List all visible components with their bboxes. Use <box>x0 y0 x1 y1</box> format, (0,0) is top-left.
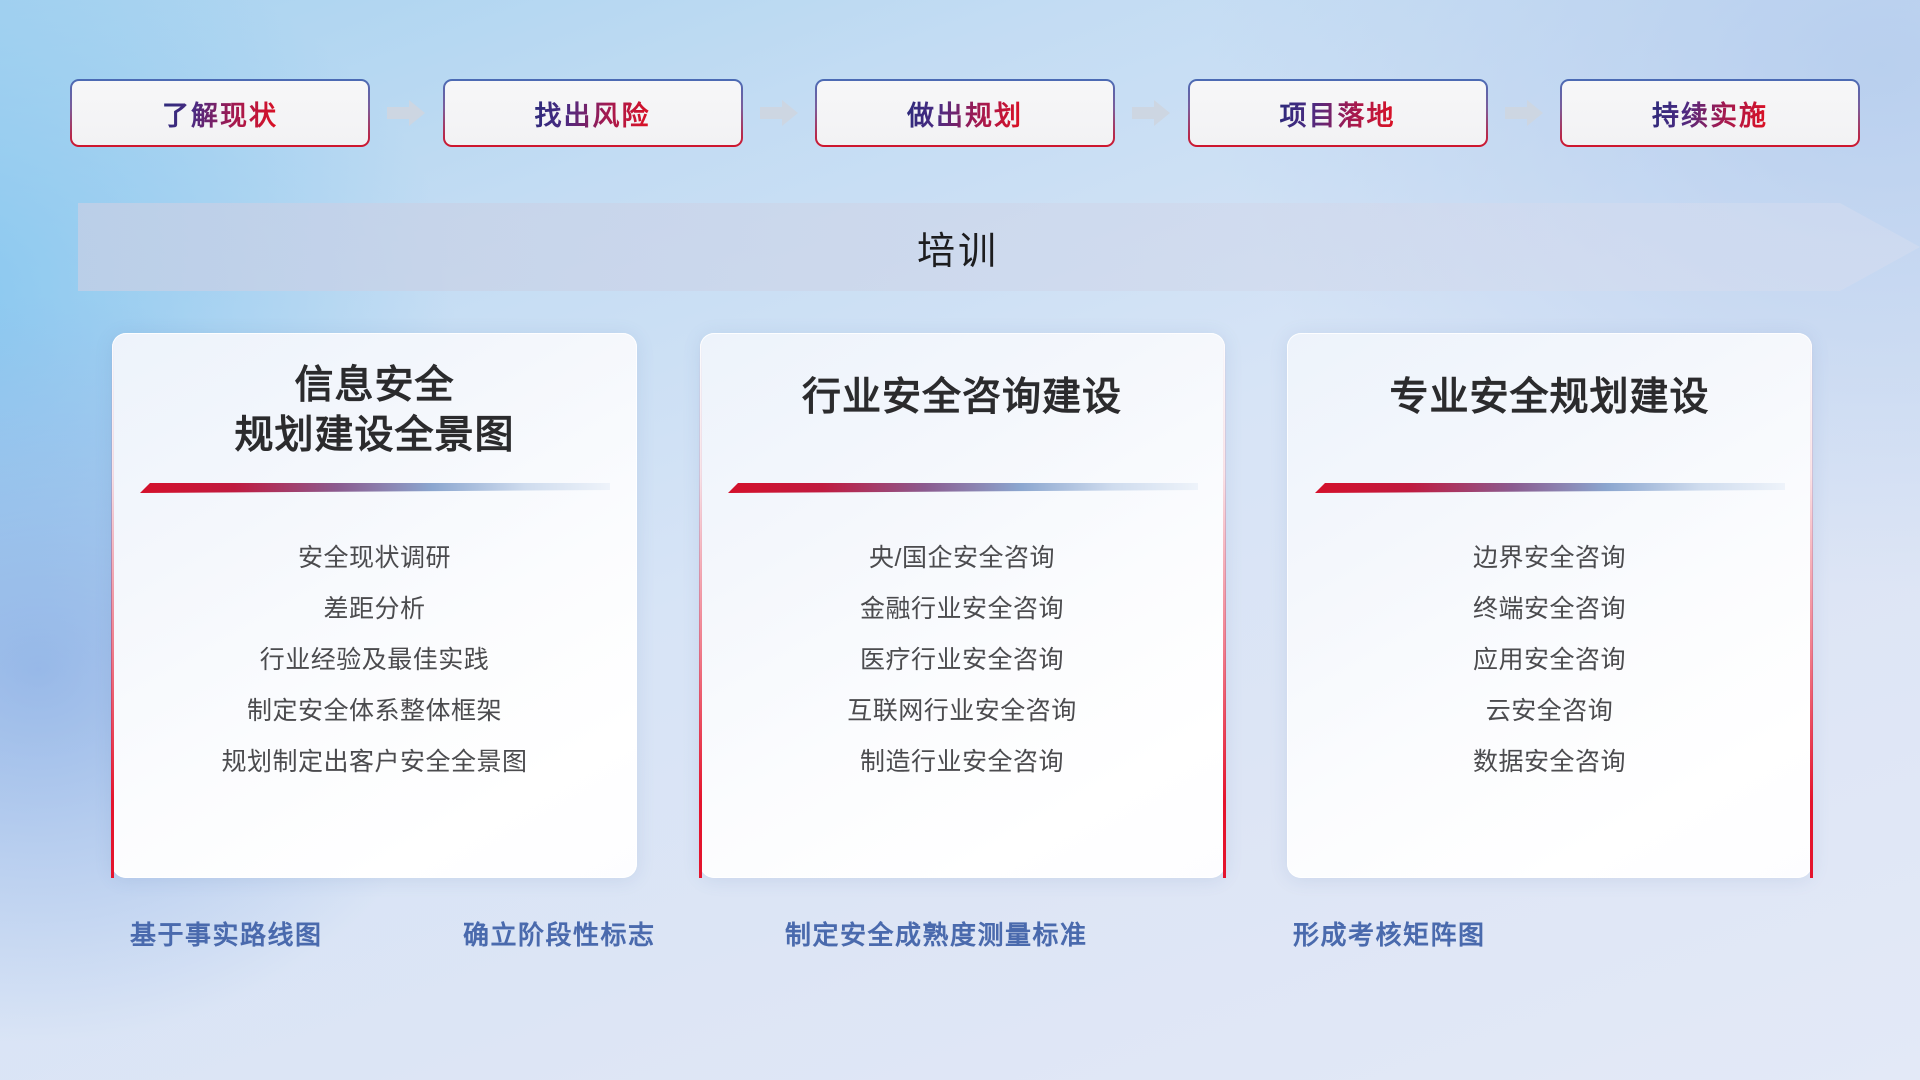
card-3-list-item: 数据安全咨询 <box>1287 737 1812 788</box>
step-label-3: 做出规划 <box>907 94 1023 133</box>
step-box-4[interactable]: 项目落地 <box>1188 79 1488 147</box>
footer-label-row: 基于事实路线图 确立阶段性标志 制定安全成熟度测量标准 形成考核矩阵图 <box>0 915 1920 961</box>
card-3-right-accent-line <box>1810 333 1813 878</box>
footer-label-1: 基于事实路线图 <box>130 915 323 952</box>
card-3-list-item: 云安全咨询 <box>1287 686 1812 737</box>
footer-label-2: 确立阶段性标志 <box>463 915 656 952</box>
card-1-title-line-2: 规划建设全景图 <box>112 411 637 461</box>
step-label-5: 持续实施 <box>1652 94 1768 133</box>
step-arrow-icon-2 <box>758 98 800 128</box>
card-3-list-item: 终端安全咨询 <box>1287 584 1812 635</box>
card-2-title: 行业安全咨询建设 <box>700 373 1225 423</box>
card-2-list-item: 央/国企安全咨询 <box>700 533 1225 584</box>
card-2-list-item: 制造行业安全咨询 <box>700 737 1225 788</box>
card-3-list-item: 应用安全咨询 <box>1287 635 1812 686</box>
step-box-2-inner: 找出风险 <box>445 81 741 145</box>
card-2[interactable]: 行业安全咨询建设 <box>700 333 1225 878</box>
step-box-4-inner: 项目落地 <box>1190 81 1486 145</box>
training-banner: 培训 <box>78 203 1920 291</box>
card-1-title-line-1: 信息安全 <box>112 361 637 411</box>
step-label-2: 找出风险 <box>535 94 651 133</box>
footer-label-3: 制定安全成熟度测量标准 <box>785 915 1088 952</box>
step-box-1-inner: 了解现状 <box>72 81 368 145</box>
card-3-title-line-1: 专业安全规划建设 <box>1287 373 1812 423</box>
card-2-left-accent-line <box>699 333 702 878</box>
step-arrow-icon-1 <box>385 98 427 128</box>
card-2-divider <box>728 483 1198 493</box>
step-label-1: 了解现状 <box>162 94 278 133</box>
card-2-list-item: 医疗行业安全咨询 <box>700 635 1225 686</box>
card-2-list: 央/国企安全咨询 金融行业安全咨询 医疗行业安全咨询 互联网行业安全咨询 制造行… <box>700 533 1225 788</box>
card-1-wrap: 信息安全 规划建设全景图 <box>112 333 637 878</box>
card-3[interactable]: 专业安全规划建设 <box>1287 333 1812 878</box>
step-box-2[interactable]: 找出风险 <box>443 79 743 147</box>
card-3-divider <box>1315 483 1785 493</box>
card-1-title: 信息安全 规划建设全景图 <box>112 361 637 461</box>
step-label-4: 项目落地 <box>1280 94 1396 133</box>
step-box-1[interactable]: 了解现状 <box>70 79 370 147</box>
step-box-5-inner: 持续实施 <box>1562 81 1858 145</box>
card-1[interactable]: 信息安全 规划建设全景图 <box>112 333 637 878</box>
card-1-divider <box>140 483 610 493</box>
card-3-title: 专业安全规划建设 <box>1287 373 1812 423</box>
process-step-row: 了解现状 找出风险 做出规划 项目落地 <box>70 78 1860 148</box>
card-row: 信息安全 规划建设全景图 <box>112 333 1812 878</box>
card-2-right-accent-line <box>1223 333 1226 878</box>
card-3-list: 边界安全咨询 终端安全咨询 应用安全咨询 云安全咨询 数据安全咨询 <box>1287 533 1812 788</box>
card-2-title-line-1: 行业安全咨询建设 <box>700 373 1225 423</box>
card-1-list-item: 规划制定出客户安全全景图 <box>112 737 637 788</box>
step-box-5[interactable]: 持续实施 <box>1560 79 1860 147</box>
step-arrow-icon-3 <box>1130 98 1172 128</box>
card-1-list-item: 安全现状调研 <box>112 533 637 584</box>
card-1-list-item: 差距分析 <box>112 584 637 635</box>
card-2-list-item: 互联网行业安全咨询 <box>700 686 1225 737</box>
banner-title: 培训 <box>78 203 1838 291</box>
card-3-list-item: 边界安全咨询 <box>1287 533 1812 584</box>
card-1-list-item: 制定安全体系整体框架 <box>112 686 637 737</box>
card-2-wrap: 行业安全咨询建设 <box>700 333 1225 878</box>
footer-label-4: 形成考核矩阵图 <box>1293 915 1486 952</box>
step-box-3-inner: 做出规划 <box>817 81 1113 145</box>
card-2-list-item: 金融行业安全咨询 <box>700 584 1225 635</box>
card-1-left-accent-line <box>111 333 114 878</box>
card-3-wrap: 专业安全规划建设 <box>1287 333 1812 878</box>
infographic-canvas: 了解现状 找出风险 做出规划 项目落地 <box>0 0 1920 1080</box>
card-1-list-item: 行业经验及最佳实践 <box>112 635 637 686</box>
step-arrow-icon-4 <box>1503 98 1545 128</box>
card-1-list: 安全现状调研 差距分析 行业经验及最佳实践 制定安全体系整体框架 规划制定出客户… <box>112 533 637 788</box>
step-box-3[interactable]: 做出规划 <box>815 79 1115 147</box>
